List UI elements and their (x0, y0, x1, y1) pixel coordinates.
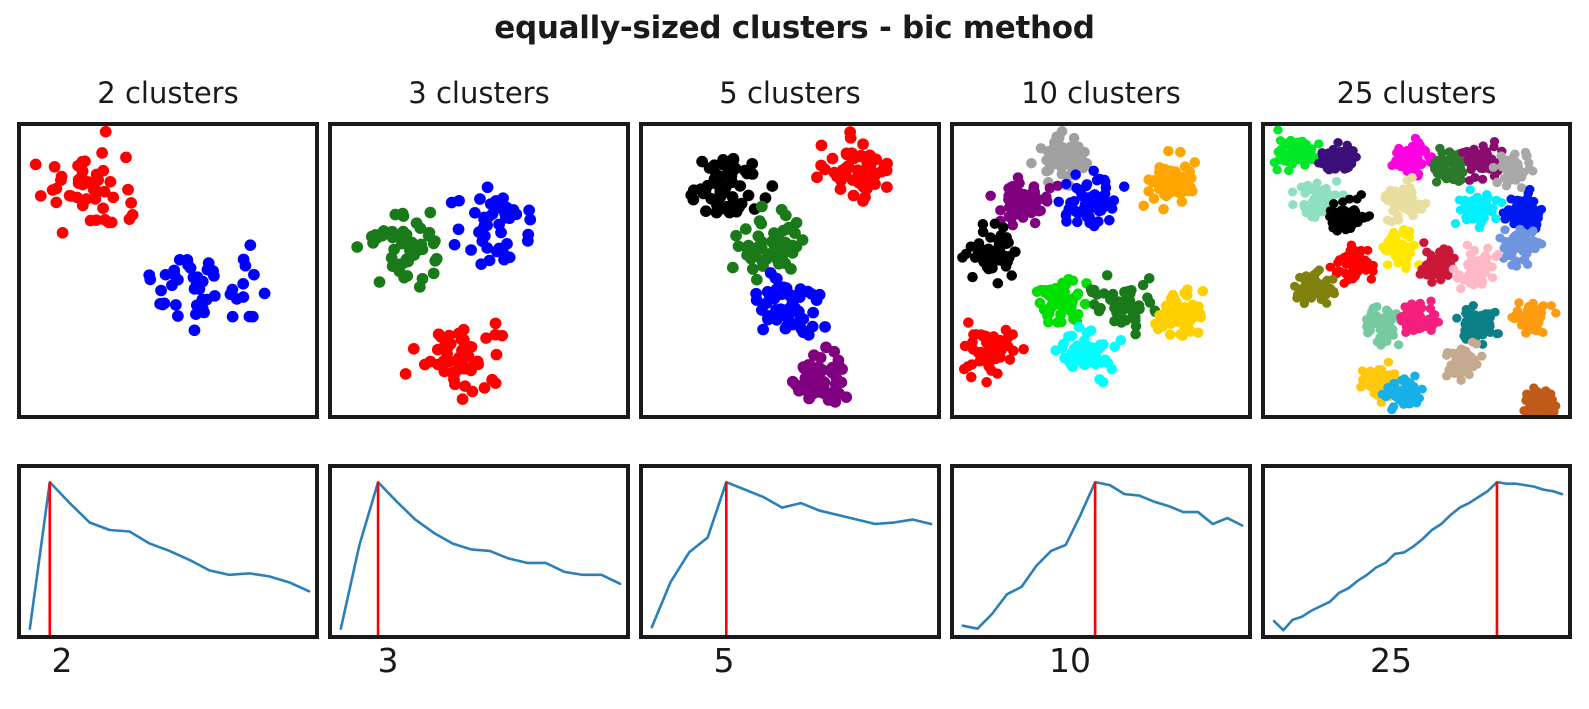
cluster-points (959, 317, 1029, 387)
cluster-points (1270, 126, 1324, 175)
cluster-points (1451, 185, 1507, 232)
criterion-line (652, 482, 931, 627)
cluster-points (1378, 225, 1423, 273)
cluster-points (1449, 241, 1503, 293)
criterion-line (963, 482, 1242, 629)
cluster-points (1507, 298, 1560, 337)
criterion-curve-plot-25 (1265, 468, 1568, 635)
scatter-axes-25-clusters (1261, 122, 1572, 419)
xtick-label-2: 2 (17, 641, 107, 680)
cluster-points (143, 239, 270, 336)
figure-title: equally-sized clusters - bic method (0, 10, 1589, 46)
panel-title-3-clusters: 3 clusters (328, 76, 630, 110)
xtick-label-10: 10 (950, 641, 1190, 680)
criterion-axes-5 (639, 464, 941, 639)
figure-canvas: equally-sized clusters - bic method 2 cl… (0, 0, 1589, 709)
scatter-axes-5-clusters (639, 122, 941, 419)
xtick-label-25: 25 (1261, 641, 1521, 680)
criterion-curve-plot-5 (643, 468, 937, 635)
cluster-points (1380, 173, 1430, 226)
scatter-plot-25-clusters (1265, 126, 1568, 415)
cluster-points (1362, 302, 1406, 349)
criterion-axes-2 (17, 464, 319, 639)
cluster-points (351, 207, 442, 293)
cluster-points (1086, 270, 1161, 339)
scatter-axes-2-clusters (17, 122, 319, 419)
cluster-points (400, 318, 508, 405)
panel-title-25-clusters: 25 clusters (1261, 76, 1572, 110)
criterion-curve-plot-2 (21, 468, 315, 635)
cluster-points (30, 126, 139, 239)
panel-title-2-clusters: 2 clusters (17, 76, 319, 110)
panel-title-5-clusters: 5 clusters (639, 76, 941, 110)
scatter-axes-10-clusters (950, 122, 1252, 419)
xtick-label-5: 5 (639, 641, 809, 680)
cluster-points (446, 181, 536, 269)
cluster-points (1138, 146, 1200, 215)
cluster-points (1442, 338, 1487, 385)
cluster-points (1396, 297, 1443, 337)
cluster-points (1032, 274, 1092, 328)
cluster-points (1290, 265, 1339, 308)
xtick-label-3: 3 (328, 641, 448, 680)
cluster-points (1519, 383, 1560, 415)
scatter-axes-3-clusters (328, 122, 630, 419)
criterion-axes-25 (1261, 464, 1572, 639)
scatter-plot-2-clusters (21, 126, 315, 415)
criterion-curve-plot-3 (332, 468, 626, 635)
scatter-plot-10-clusters (954, 126, 1248, 415)
criterion-line (341, 482, 620, 629)
criterion-curve-plot-10 (954, 468, 1248, 635)
criterion-line (1274, 482, 1562, 630)
cluster-points (1050, 322, 1126, 387)
scatter-plot-5-clusters (643, 126, 937, 415)
cluster-points (811, 126, 893, 207)
criterion-axes-3 (328, 464, 630, 639)
cluster-points (787, 341, 852, 407)
criterion-axes-10 (950, 464, 1252, 639)
scatter-plot-3-clusters (332, 126, 626, 415)
criterion-line (30, 482, 309, 629)
cluster-points (1150, 284, 1208, 341)
panel-title-10-clusters: 10 clusters (950, 76, 1252, 110)
